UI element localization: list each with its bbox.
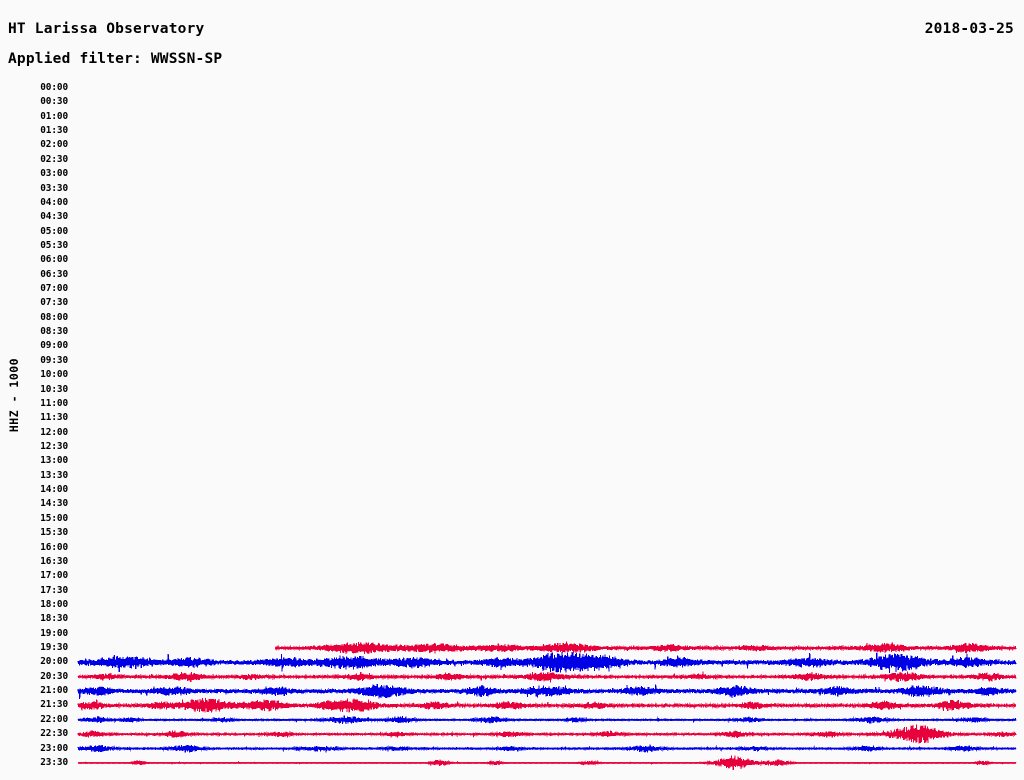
trace-line-2300 (78, 745, 1016, 753)
trace-line-2030 (78, 672, 1016, 683)
seismogram-page: HT Larissa Observatory Applied filter: W… (0, 0, 1024, 780)
trace-line-2100 (78, 684, 1016, 699)
trace-line-2130 (78, 698, 1016, 712)
seismic-traces (0, 0, 1024, 780)
trace-line-1930 (276, 641, 1017, 654)
trace-line-2230 (78, 725, 1016, 744)
helicorder-plot (0, 0, 1024, 780)
trace-line-2200 (78, 716, 1016, 724)
trace-line-2000 (78, 652, 1016, 673)
trace-line-2330 (78, 756, 1016, 770)
